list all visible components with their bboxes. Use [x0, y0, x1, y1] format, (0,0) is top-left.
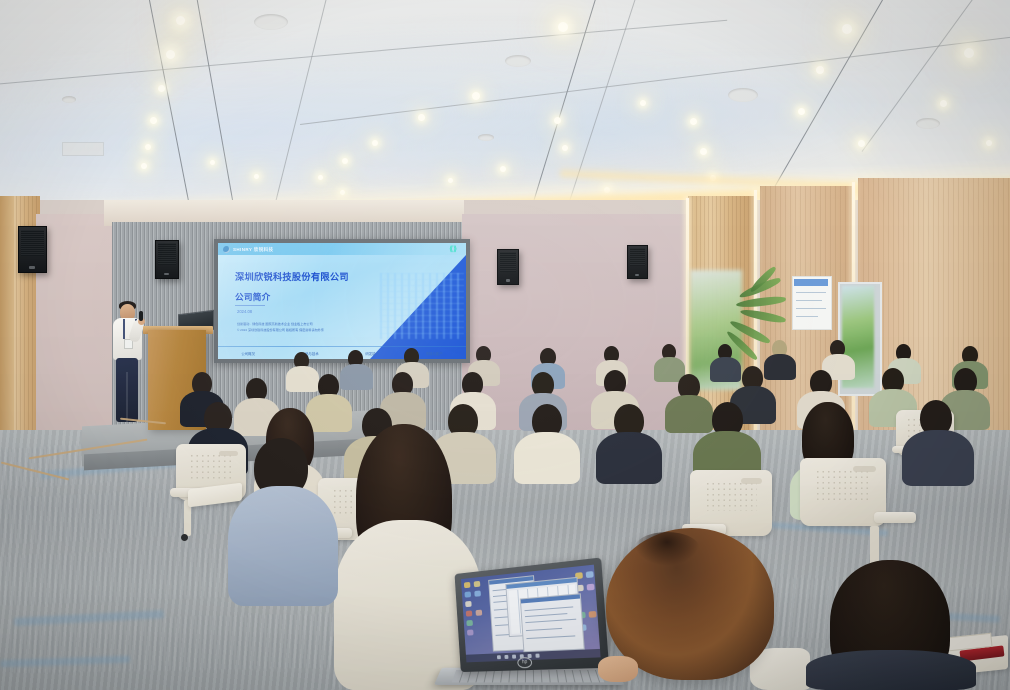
speaker-badge	[635, 274, 639, 276]
window-line	[525, 613, 567, 617]
attendee-shoulders	[764, 354, 796, 380]
chair-handle-slot	[853, 466, 875, 472]
window-line	[524, 606, 573, 611]
ceiling-downlight	[166, 50, 175, 59]
attendee-shoulders	[806, 650, 976, 690]
ceiling-downlight	[418, 114, 425, 121]
speaker-grille	[500, 252, 517, 272]
attendee-shoulders	[902, 430, 974, 486]
laptop-lid: hp	[455, 557, 610, 672]
ceiling-downlight	[150, 117, 157, 124]
chair-perforation	[705, 481, 757, 511]
attendee-shoulders	[514, 432, 580, 484]
ceiling-downlight	[372, 140, 378, 146]
speaker-badge	[29, 266, 35, 269]
desktop-icon[interactable]	[465, 601, 472, 607]
ceiling-downlight	[842, 24, 852, 34]
ceiling-vent	[62, 142, 104, 156]
hp-laptop[interactable]: hp	[438, 566, 620, 690]
attendee-shoulders	[228, 486, 338, 606]
ceiling-downlight	[940, 100, 947, 107]
speaker-left-wall	[18, 226, 47, 273]
desktop-icon[interactable]	[587, 584, 595, 591]
desktop-icon[interactable]	[464, 582, 471, 588]
desktop-icon[interactable]	[464, 591, 471, 597]
taskbar-icon[interactable]	[504, 655, 508, 659]
screen-glare	[218, 243, 466, 359]
taskbar-icon[interactable]	[497, 655, 501, 659]
speaker-badge	[506, 279, 510, 281]
attendee-hand	[598, 656, 638, 682]
ceiling-downlight	[964, 48, 974, 58]
ceiling-downlight	[145, 144, 151, 150]
attendee-shoulders	[665, 395, 713, 433]
presenter-leg-split	[126, 372, 128, 422]
window-line	[525, 619, 576, 623]
desktop-icon[interactable]	[474, 581, 481, 587]
laptop-keyboard[interactable]	[452, 670, 605, 682]
conference-room-photo: SHINRY 欣锐科技 ⟪⟫ 深圳欣锐科技股份有限公司 公司简介 2024.08…	[0, 0, 1010, 690]
window-line	[526, 635, 575, 639]
laptop-screen[interactable]	[461, 565, 601, 663]
desktop-icon[interactable]	[589, 611, 597, 618]
speaker-grille	[21, 230, 44, 256]
attendee-shoulders	[596, 432, 662, 484]
desktop-icon[interactable]	[467, 630, 474, 636]
chair-perforation	[189, 453, 234, 479]
chair-handle-slot	[741, 478, 762, 484]
attendee-shoulders	[306, 394, 352, 432]
app-window-front[interactable]	[520, 593, 585, 652]
ceiling-downlight	[558, 22, 568, 32]
desktop-icon[interactable]	[586, 571, 594, 578]
desktop-icon[interactable]	[466, 620, 473, 626]
taskbar-icon[interactable]	[535, 654, 539, 658]
palm-frond	[740, 307, 787, 324]
speaker-stage-left	[155, 240, 179, 279]
chair-perforation	[815, 469, 870, 500]
attendee-hair-part	[634, 532, 700, 566]
chair-caster	[181, 534, 188, 541]
speaker-badge	[164, 273, 169, 276]
speaker-grille	[630, 248, 646, 267]
ceiling-downlight	[798, 108, 805, 115]
ceiling-downlight	[690, 118, 697, 125]
desktop-icon[interactable]	[476, 610, 483, 616]
ceiling-downlight	[816, 66, 824, 74]
ceiling-downlight	[158, 85, 165, 92]
chair-handle-slot	[219, 451, 237, 456]
hp-logo: hp	[517, 657, 532, 668]
speaker-stage-right	[497, 249, 519, 285]
ceiling-speaker	[254, 14, 288, 30]
ceiling-downlight	[554, 117, 561, 124]
speaker-right-wall	[627, 245, 648, 279]
chair-arm	[874, 512, 916, 523]
window-line	[526, 628, 562, 631]
ceiling-speaker	[916, 118, 940, 129]
ceiling-downlight	[472, 92, 480, 100]
taskbar-icon[interactable]	[512, 655, 516, 659]
attendee-shoulders	[710, 357, 741, 382]
projected-slide: SHINRY 欣锐科技 ⟪⟫ 深圳欣锐科技股份有限公司 公司简介 2024.08…	[218, 243, 466, 359]
ceiling-downlight	[176, 16, 185, 25]
ceiling-speaker	[728, 88, 758, 102]
desktop-icon[interactable]	[474, 590, 481, 596]
ceiling-speaker	[62, 96, 76, 103]
attendee-shoulders	[340, 364, 373, 390]
ceiling-downlight	[640, 100, 646, 106]
taskbar[interactable]	[466, 649, 601, 662]
desktop-icon[interactable]	[466, 610, 473, 616]
ceiling-speaker	[505, 55, 531, 67]
speaker-grille	[158, 243, 176, 264]
attendee-foreground	[600, 528, 800, 690]
microphone-icon	[139, 311, 143, 321]
ceiling-speaker	[478, 134, 494, 141]
attendee-shoulders	[286, 366, 319, 392]
